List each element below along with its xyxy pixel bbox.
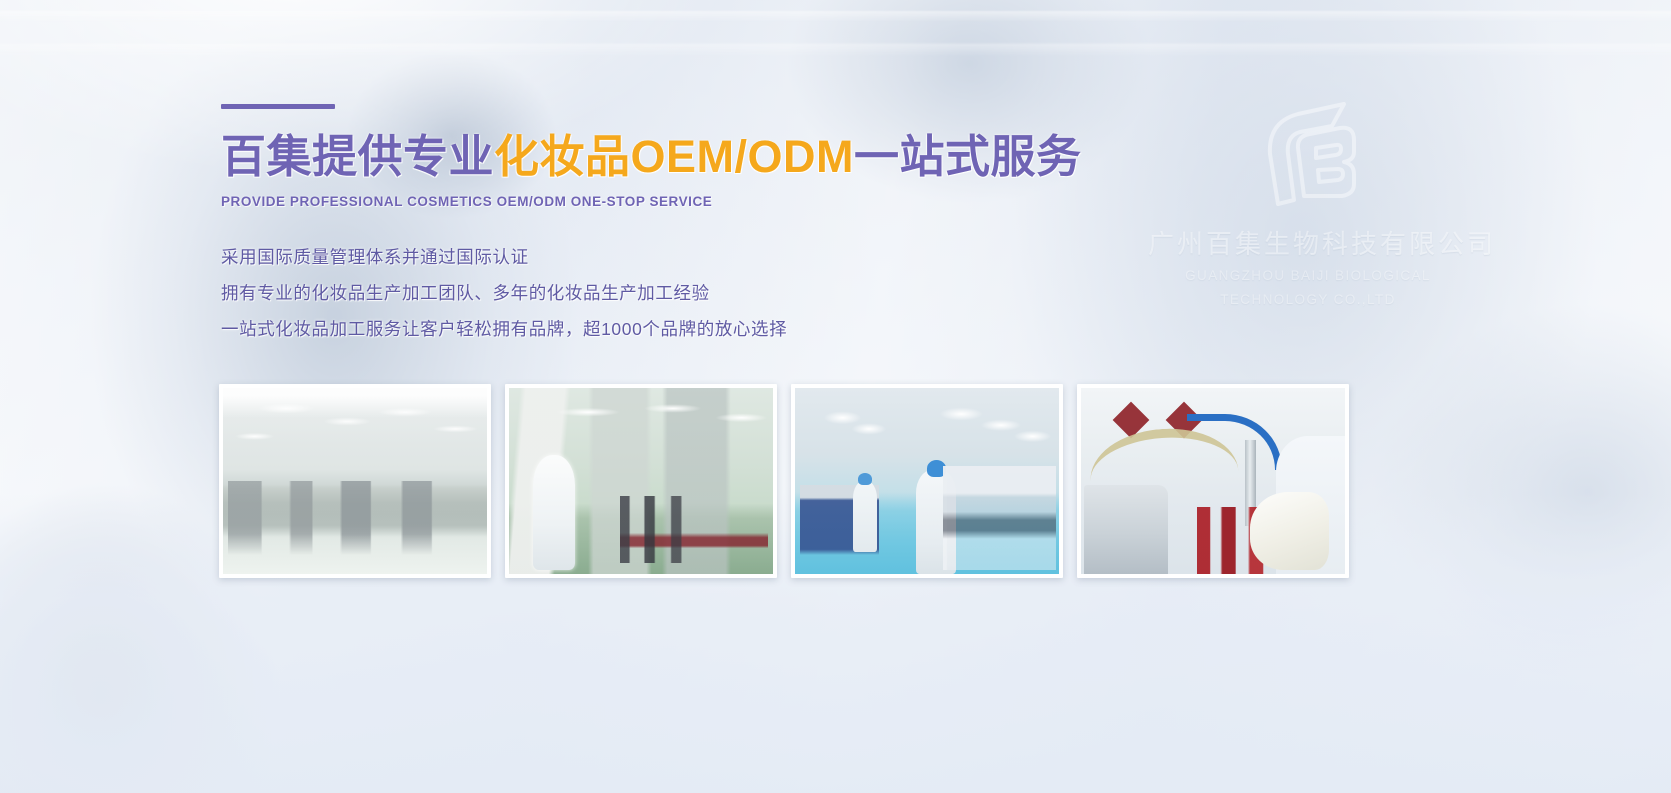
accent-bar bbox=[221, 104, 335, 109]
cosmetics-oem-banner: 广州百集生物科技有限公司 GUANGZHOU BAIJI BIOLOGICAL … bbox=[0, 0, 1671, 793]
gallery-thumb-3[interactable] bbox=[791, 384, 1063, 578]
operator-glove bbox=[1250, 492, 1329, 570]
page-title: 百集提供专业化妆品OEM/ODM一站式服务 bbox=[221, 133, 1121, 182]
list-item: 采用国际质量管理体系并通过国际认证 bbox=[221, 239, 1121, 275]
headline-segment-3: 一站式服务 bbox=[854, 131, 1082, 182]
photo-filling-line bbox=[509, 388, 773, 574]
company-watermark: 广州百集生物科技有限公司 GUANGZHOU BAIJI BIOLOGICAL … bbox=[1148, 96, 1468, 310]
filling-machine-body bbox=[1084, 485, 1168, 574]
photo-bottle-filling-closeup bbox=[1081, 388, 1345, 574]
photo-gallery bbox=[219, 384, 1349, 578]
watermark-company-en-line1: GUANGZHOU BAIJI BIOLOGICAL bbox=[1148, 266, 1468, 286]
watermark-company-cn: 广州百集生物科技有限公司 bbox=[1148, 228, 1468, 261]
gallery-thumb-2[interactable] bbox=[505, 384, 777, 578]
headline-segment-1: 百集提供专业 bbox=[221, 131, 494, 182]
feature-list: 采用国际质量管理体系并通过国际认证 拥有专业的化妆品生产加工团队、多年的化妆品生… bbox=[221, 239, 1121, 347]
headline-segment-2: 化妆品OEM/ODM bbox=[494, 131, 854, 182]
photo-emulsifier-workshop bbox=[223, 388, 487, 574]
blue-air-hose bbox=[1187, 414, 1282, 470]
baiji-bj-monogram-logo-icon bbox=[1248, 96, 1368, 214]
list-item: 拥有专业的化妆品生产加工团队、多年的化妆品生产加工经验 bbox=[221, 275, 1121, 311]
gallery-thumb-4[interactable] bbox=[1077, 384, 1349, 578]
banner-text-block: 百集提供专业化妆品OEM/ODM一站式服务 PROVIDE PROFESSION… bbox=[221, 104, 1121, 347]
watermark-company-en-line2: TECHNOLOGY CO.,LTD bbox=[1148, 290, 1468, 310]
page-subtitle: PROVIDE PROFESSIONAL COSMETICS OEM/ODM O… bbox=[221, 194, 1121, 209]
photo-qc-laboratory bbox=[795, 388, 1059, 574]
lab-worker-background bbox=[853, 481, 877, 552]
gallery-thumb-1[interactable] bbox=[219, 384, 491, 578]
lab-worker-foreground bbox=[916, 470, 956, 574]
list-item: 一站式化妆品加工服务让客户轻松拥有品牌，超1000个品牌的放心选择 bbox=[221, 311, 1121, 347]
